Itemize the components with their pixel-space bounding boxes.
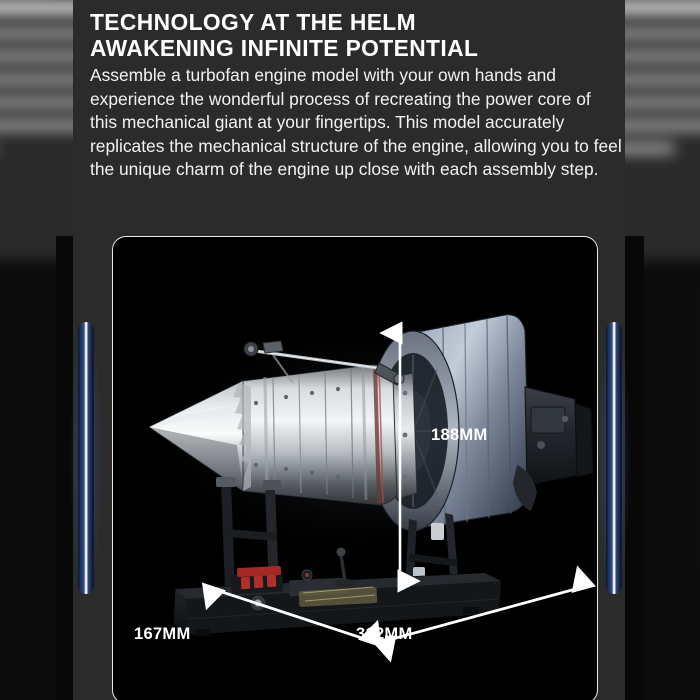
width-dimension-label: 312MM (356, 625, 413, 644)
headline-line-1: TECHNOLOGY AT THE HELM (90, 9, 594, 35)
height-dimension-label: 188MM (431, 426, 488, 445)
product-image-card: 188MM 312MM 167MM (112, 236, 598, 700)
product-detail-screen: TECHNOLOGY AT THE HELM AWAKENING INFINIT… (0, 0, 700, 700)
content-panel: TECHNOLOGY AT THE HELM AWAKENING INFINIT… (73, 0, 625, 700)
headline-line-2: AWAKENING INFINITE POTENTIAL (90, 35, 594, 61)
accent-bar-left (78, 322, 94, 594)
gutter-right (622, 236, 644, 700)
width-dimension-arrow (385, 587, 583, 641)
depth-dimension-arrow (213, 589, 371, 641)
accent-bar-right (606, 322, 622, 594)
body-copy: Assemble a turbofan engine model with yo… (90, 64, 622, 182)
depth-dimension-label: 167MM (134, 625, 191, 644)
dimension-annotations: 188MM 312MM 167MM (113, 237, 598, 700)
body-paragraph: Assemble a turbofan engine model with yo… (90, 64, 622, 182)
page-title: TECHNOLOGY AT THE HELM AWAKENING INFINIT… (90, 9, 610, 61)
